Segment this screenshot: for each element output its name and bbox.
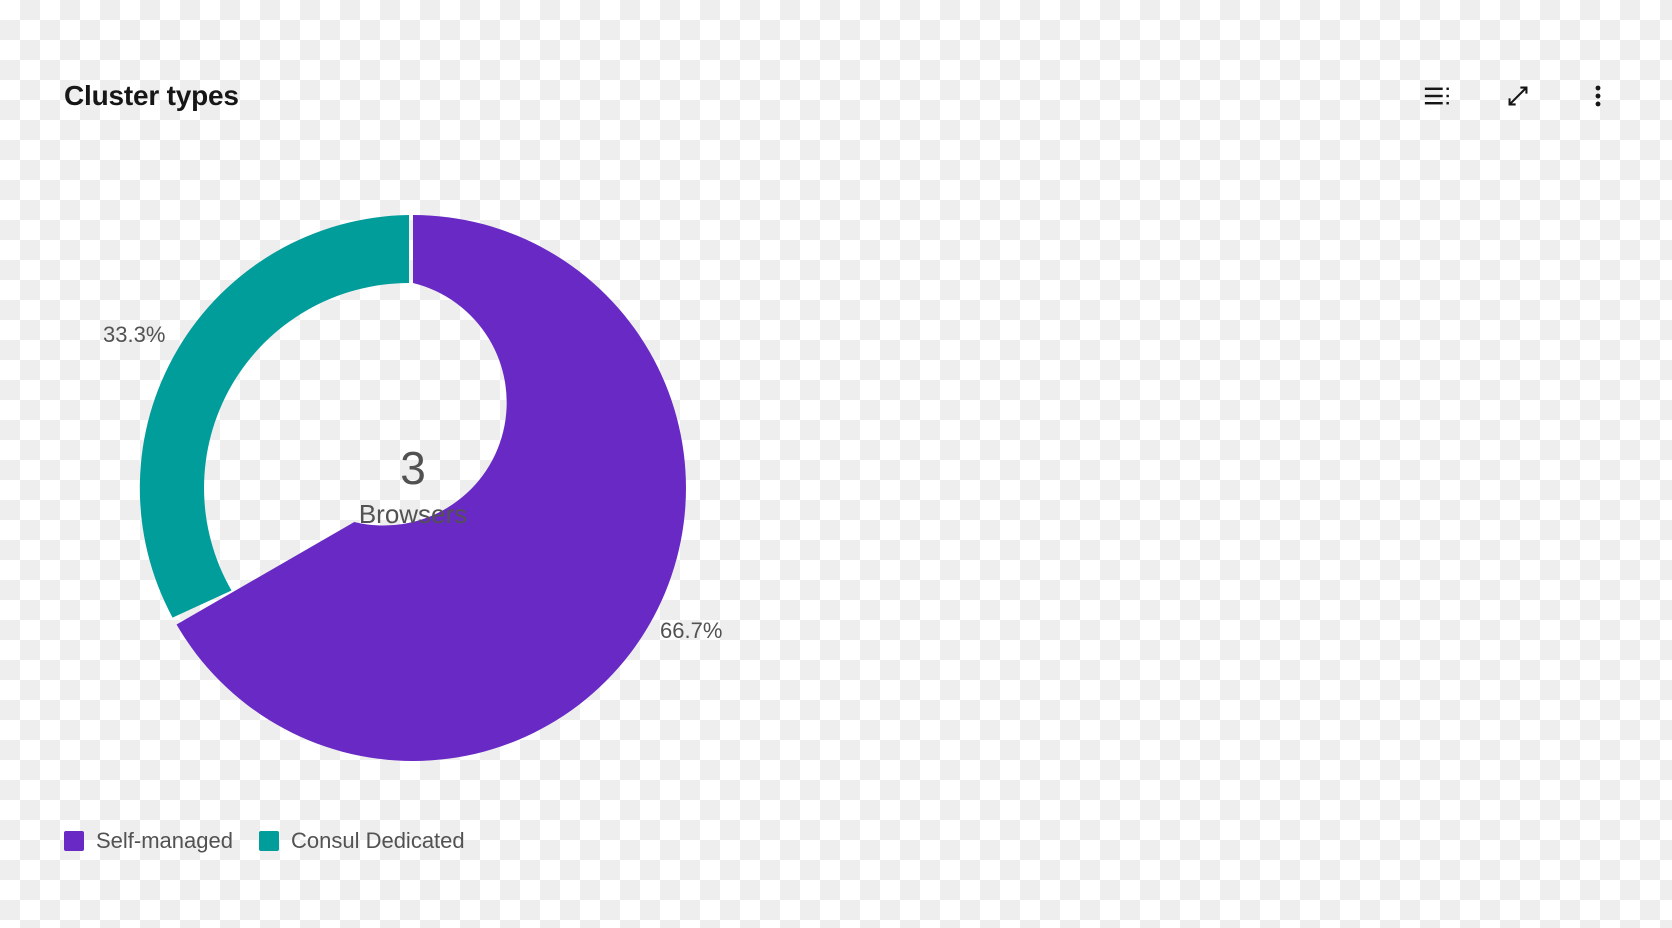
expand-icon-button[interactable] bbox=[1496, 74, 1540, 118]
overflow-menu-icon bbox=[1583, 81, 1613, 111]
donut-chart-svg bbox=[0, 0, 900, 800]
chart-toolbar bbox=[1416, 74, 1620, 118]
legend-swatch-consul-dedicated bbox=[259, 831, 279, 851]
overflow-menu-icon-button[interactable] bbox=[1576, 74, 1620, 118]
slice-percent-label-consul-dedicated: 33.3% bbox=[103, 322, 165, 348]
chart-legend: Self-managed Consul Dedicated bbox=[64, 830, 465, 852]
table-view-icon-button[interactable] bbox=[1416, 74, 1460, 118]
slice-percent-label-self-managed: 66.7% bbox=[660, 618, 722, 644]
legend-label-self-managed: Self-managed bbox=[96, 830, 233, 852]
legend-label-consul-dedicated: Consul Dedicated bbox=[291, 830, 465, 852]
cluster-types-chart-card: Cluster types bbox=[0, 0, 1672, 928]
legend-item-self-managed[interactable]: Self-managed bbox=[64, 830, 233, 852]
donut-chart: 3 Browsers 33.3% 66.7% bbox=[0, 0, 900, 800]
legend-swatch-self-managed bbox=[64, 831, 84, 851]
legend-item-consul-dedicated[interactable]: Consul Dedicated bbox=[259, 830, 465, 852]
expand-icon bbox=[1503, 81, 1533, 111]
table-view-icon bbox=[1423, 81, 1453, 111]
